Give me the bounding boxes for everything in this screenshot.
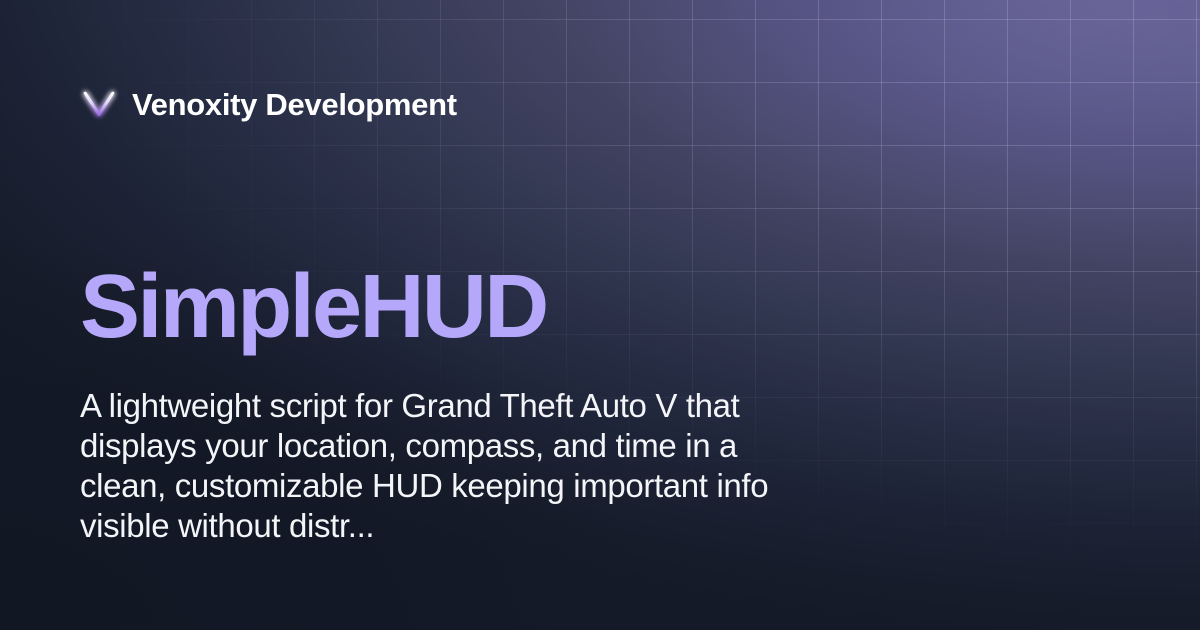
venoxity-v-chevron-icon bbox=[80, 85, 118, 123]
page-title: SimpleHUD bbox=[80, 262, 547, 352]
open-graph-card: Venoxity Development SimpleHUD A lightwe… bbox=[0, 0, 1200, 630]
brand-row: Venoxity Development bbox=[80, 82, 457, 126]
card-content: Venoxity Development SimpleHUD A lightwe… bbox=[0, 0, 1200, 630]
brand-name: Venoxity Development bbox=[132, 89, 457, 120]
page-description: A lightweight script for Grand Theft Aut… bbox=[80, 386, 825, 546]
